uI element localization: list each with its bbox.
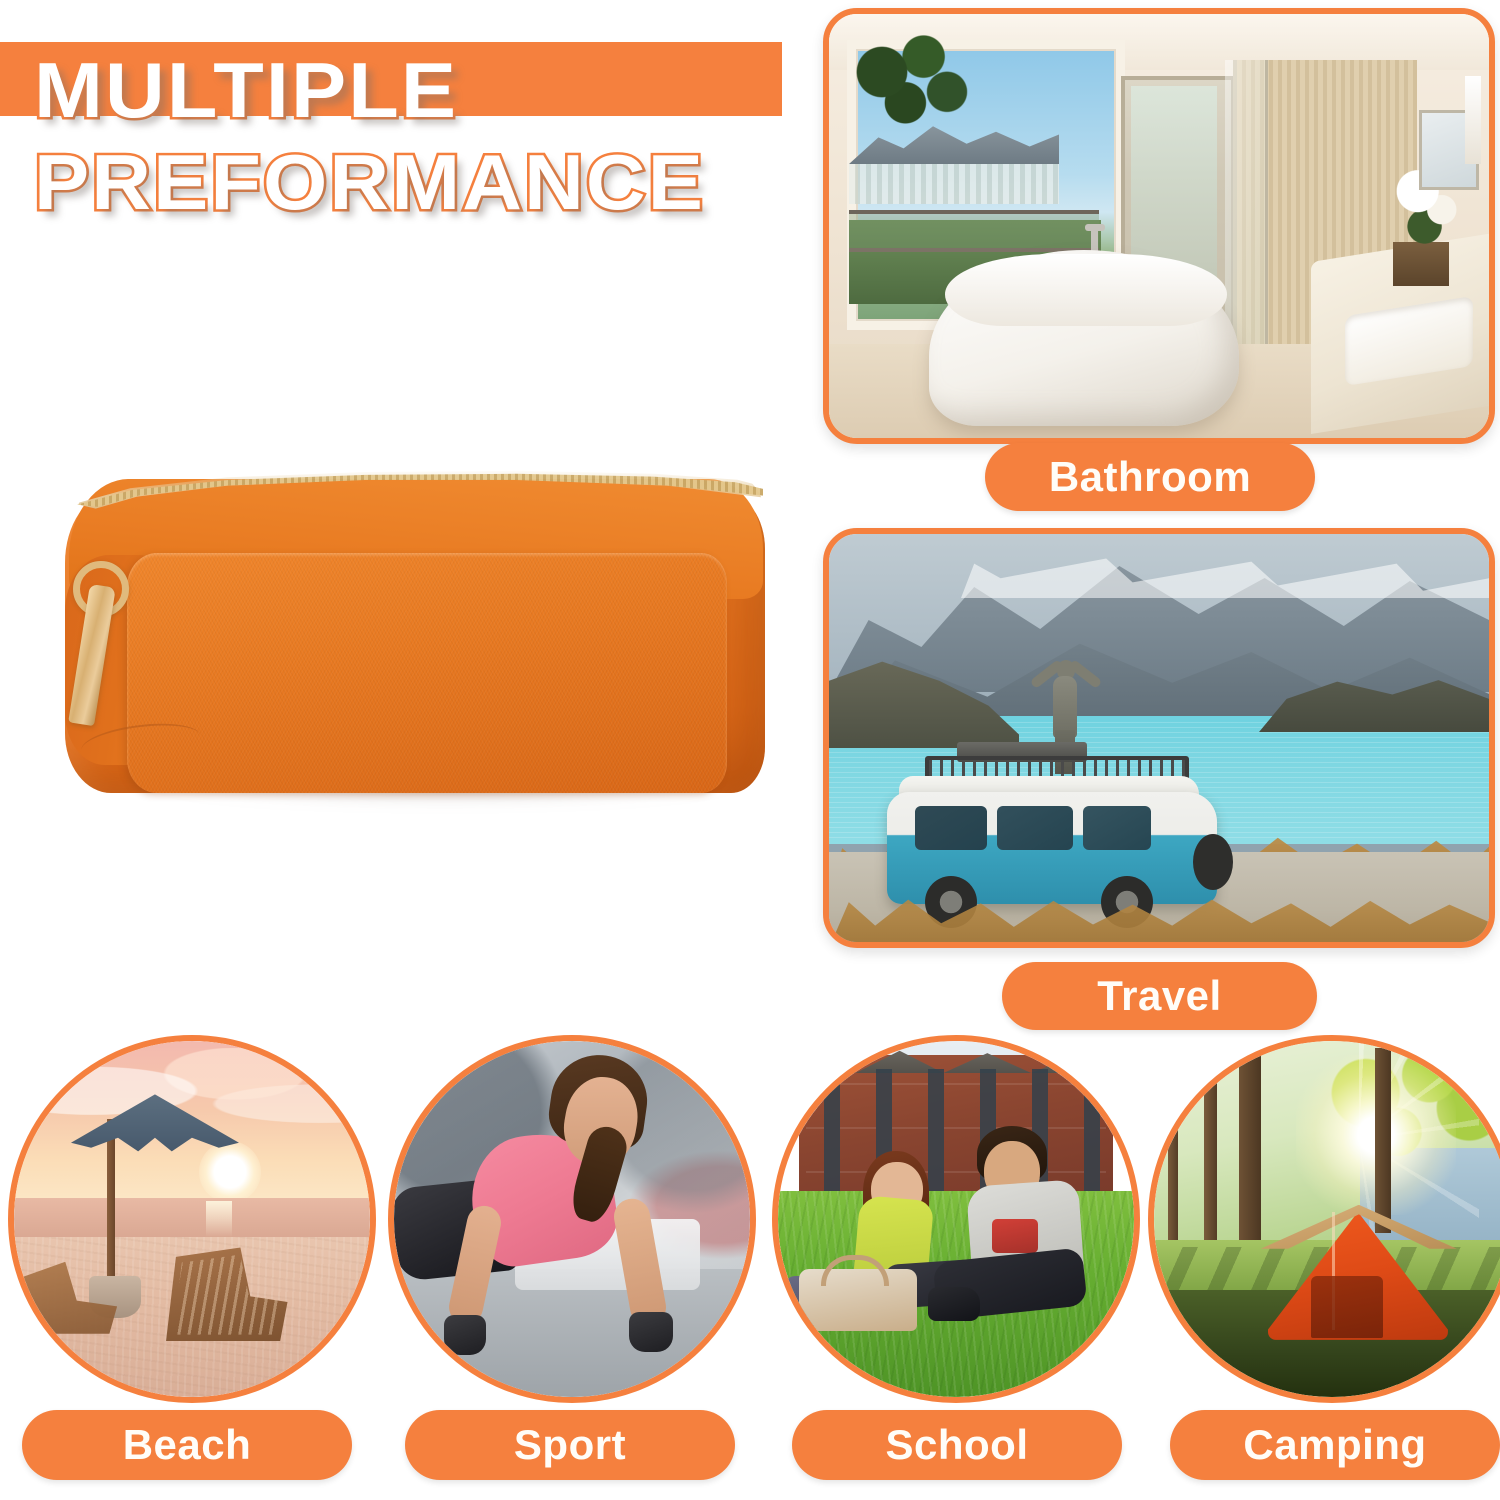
page-title: MULTIPLE PREFORMANCE [34, 48, 854, 224]
window-tree-foliage [843, 28, 973, 138]
label-school: School [792, 1410, 1122, 1480]
van-window-middle [997, 806, 1073, 850]
bathroom-scene [829, 14, 1489, 438]
travel-photo [823, 528, 1495, 948]
pouch-front-panel [127, 553, 727, 793]
travel-scene [829, 534, 1489, 942]
van-spare-tire [1193, 834, 1233, 890]
bathtub-rim [945, 254, 1227, 326]
label-travel: Travel [1002, 962, 1317, 1030]
tree-trunk-right [1375, 1048, 1391, 1233]
umbrella-pole [107, 1119, 115, 1283]
headline-line-1: MULTIPLE [34, 48, 903, 132]
product-photo [35, 435, 795, 855]
headline-line-2: PREFORMANCE [34, 140, 903, 224]
training-glove-left [444, 1315, 486, 1355]
training-glove-right [629, 1312, 673, 1352]
shower-glass-panel [1225, 60, 1268, 352]
van-window-front [1083, 806, 1151, 850]
label-sport: Sport [405, 1410, 735, 1480]
marketing-infographic: MULTIPLE PREFORMANCE [0, 0, 1500, 1500]
tree-trunk-far [1168, 1069, 1178, 1268]
wall-sconce-light [1465, 76, 1481, 164]
beach-clouds [14, 1048, 370, 1155]
setting-sun [199, 1141, 261, 1203]
sport-photo [388, 1035, 756, 1403]
bathroom-photo [823, 8, 1495, 444]
sun-reflection [206, 1201, 232, 1237]
label-beach: Beach [22, 1410, 352, 1480]
beach-photo [8, 1035, 376, 1403]
camping-scene [1154, 1041, 1500, 1397]
van-window-rear [915, 806, 987, 850]
hoodie-logo [992, 1219, 1038, 1253]
label-bathroom: Bathroom [985, 443, 1315, 511]
school-photo [772, 1035, 1140, 1403]
tent-door [1311, 1276, 1383, 1338]
sport-scene [394, 1041, 750, 1397]
beach-scene [14, 1041, 370, 1397]
beach-ocean [14, 1198, 370, 1241]
person-torso [1053, 676, 1077, 738]
window-hillside-houses [849, 164, 1059, 204]
school-scene [778, 1041, 1134, 1397]
student-shoe [928, 1287, 980, 1321]
camping-photo [1148, 1035, 1500, 1403]
window-deck-railing [849, 210, 1099, 252]
label-camping: Camping [1170, 1410, 1500, 1480]
